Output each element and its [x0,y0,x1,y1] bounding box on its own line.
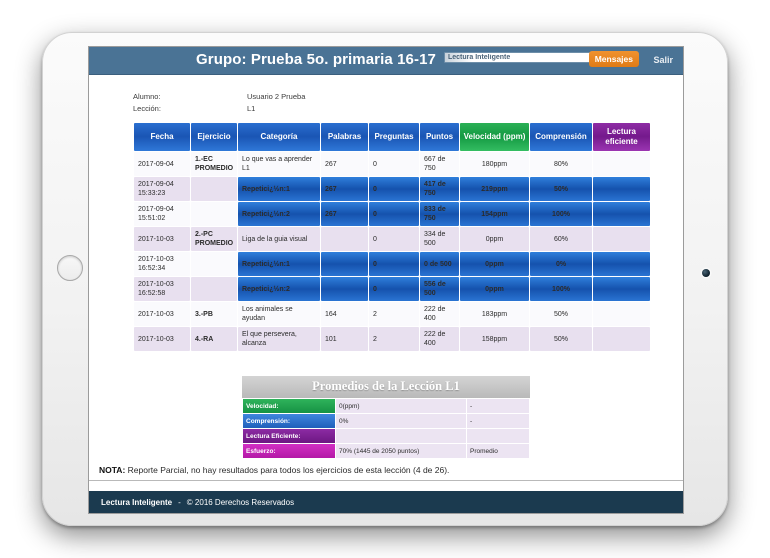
cell-fecha: 2017-10-03 16:52:34 [134,252,190,276]
footer-copyright: © 2016 Derechos Reservados [187,498,294,507]
tablet-screen: Grupo: Prueba 5o. primaria 16-17 Lectura… [88,46,684,514]
cell-puntos: 334 de 500 [420,227,459,251]
cell-velocidad: 180ppm [460,152,529,176]
cell-comprension: 0% [530,252,592,276]
cell-fecha: 2017-09-04 15:51:02 [134,202,190,226]
cell-lectura-eficiente [593,302,650,326]
results-table: Fecha Ejercicio Categoría Palabras Pregu… [133,122,651,352]
promedios-value [336,429,466,443]
results-table-body: 2017-09-041.-EC PROMEDIOLo que vas a apr… [134,152,650,351]
student-meta: Alumno: Usuario 2 Prueba Lección: L1 [133,91,639,115]
cell-comprension: 60% [530,227,592,251]
results-table-head: Fecha Ejercicio Categoría Palabras Pregu… [134,123,650,151]
cell-lectura-eficiente [593,277,650,301]
cell-puntos: 417 de 750 [420,177,459,201]
footer-brand: Lectura Inteligente [101,498,172,507]
cell-fecha: 2017-10-03 16:52:58 [134,277,190,301]
app-footer: Lectura Inteligente - © 2016 Derechos Re… [89,491,683,513]
table-row[interactable]: 2017-10-03 16:52:58Repetici¿½n:20556 de … [134,277,650,301]
table-header-row: Fecha Ejercicio Categoría Palabras Pregu… [134,123,650,151]
alumno-value: Usuario 2 Prueba [247,91,305,103]
cell-velocidad: 0ppm [460,252,529,276]
cell-categoria: Lo que vas a aprender L1 [238,152,320,176]
col-puntos[interactable]: Puntos [420,123,459,151]
cell-ejercicio [191,177,237,201]
cell-ejercicio: 3.-PB [191,302,237,326]
promedios-note: - [467,399,529,413]
cell-lectura-eficiente [593,327,650,351]
promedios-panel: Promedios de la Lección L1 Velocidad:0(p… [242,376,530,459]
meta-row-leccion: Lección: L1 [133,103,639,115]
promedios-row: Lectura Eficiente: [243,429,529,443]
cell-ejercicio [191,202,237,226]
app-screen: Grupo: Prueba 5o. primaria 16-17 Lectura… [89,47,683,513]
cell-palabras [321,227,368,251]
cell-comprension: 100% [530,277,592,301]
cell-lectura-eficiente [593,252,650,276]
cell-comprension: 50% [530,177,592,201]
cell-fecha: 2017-09-04 15:33:23 [134,177,190,201]
promedios-label: Lectura Eficiente: [243,429,335,443]
col-categoria[interactable]: Categoría [238,123,320,151]
table-row[interactable]: 2017-10-03 16:52:34Repetici¿½n:100 de 50… [134,252,650,276]
mensajes-button[interactable]: Mensajes [589,51,639,67]
cell-puntos: 222 de 400 [420,302,459,326]
cell-comprension: 100% [530,202,592,226]
cell-ejercicio: 4.-RA [191,327,237,351]
cell-categoria: Liga de la guia visual [238,227,320,251]
cell-ejercicio: 2.-PC PROMEDIO [191,227,237,251]
cell-categoria: Repetici¿½n:1 [238,252,320,276]
promedios-title: Promedios de la Lección L1 [242,376,530,398]
cell-palabras [321,277,368,301]
promedios-value: 0% [336,414,466,428]
tablet-home-button[interactable] [57,255,83,281]
app-header: Grupo: Prueba 5o. primaria 16-17 Lectura… [89,47,683,75]
promedios-row: Esfuerzo:70% (1445 de 2050 puntos)Promed… [243,444,529,458]
cell-preguntas: 0 [369,152,419,176]
cell-palabras: 267 [321,202,368,226]
table-row[interactable]: 2017-10-032.-PC PROMEDIOLiga de la guia … [134,227,650,251]
promedios-note: Promedio [467,444,529,458]
cell-lectura-eficiente [593,177,650,201]
cell-preguntas: 2 [369,302,419,326]
col-preguntas[interactable]: Preguntas [369,123,419,151]
leccion-label: Lección: [133,103,247,115]
col-fecha[interactable]: Fecha [134,123,190,151]
cell-fecha: 2017-09-04 [134,152,190,176]
table-row[interactable]: 2017-09-04 15:51:02Repetici¿½n:22670833 … [134,202,650,226]
cell-preguntas: 0 [369,277,419,301]
nota-text: Reporte Parcial, no hay resultados para … [125,465,449,475]
meta-row-alumno: Alumno: Usuario 2 Prueba [133,91,639,103]
cell-ejercicio: 1.-EC PROMEDIO [191,152,237,176]
footer-separator: - [178,498,181,507]
cell-velocidad: 158ppm [460,327,529,351]
cell-lectura-eficiente [593,227,650,251]
cell-palabras: 267 [321,177,368,201]
cell-preguntas: 0 [369,227,419,251]
nota-bar: NOTA: Reporte Parcial, no hay resultados… [89,465,683,481]
cell-lectura-eficiente [593,202,650,226]
leccion-value: L1 [247,103,255,115]
cell-preguntas: 0 [369,252,419,276]
cell-puntos: 0 de 500 [420,252,459,276]
cell-fecha: 2017-10-03 [134,327,190,351]
table-row[interactable]: 2017-09-04 15:33:23Repetici¿½n:12670417 … [134,177,650,201]
table-row[interactable]: 2017-10-034.-RAEl que persevera, alcanza… [134,327,650,351]
promedios-label: Velocidad: [243,399,335,413]
cell-categoria: Repetici¿½n:2 [238,277,320,301]
cell-palabras: 101 [321,327,368,351]
cell-comprension: 80% [530,152,592,176]
cell-categoria: Repetici¿½n:2 [238,202,320,226]
cell-preguntas: 0 [369,202,419,226]
cell-fecha: 2017-10-03 [134,227,190,251]
cell-velocidad: 0ppm [460,227,529,251]
cell-velocidad: 219ppm [460,177,529,201]
cell-comprension: 50% [530,327,592,351]
promedios-row: Velocidad:0(ppm)- [243,399,529,413]
cell-preguntas: 2 [369,327,419,351]
cell-categoria: Repetici¿½n:1 [238,177,320,201]
cell-ejercicio [191,277,237,301]
cell-categoria: Los animales se ayudan [238,302,320,326]
app-content: Alumno: Usuario 2 Prueba Lección: L1 [89,75,683,513]
cell-velocidad: 0ppm [460,277,529,301]
cell-comprension: 50% [530,302,592,326]
cell-lectura-eficiente [593,152,650,176]
promedios-row: Comprensión:0%- [243,414,529,428]
promedios-table: Velocidad:0(ppm)-Comprensión:0%-Lectura … [242,398,530,459]
cell-palabras: 267 [321,152,368,176]
cell-fecha: 2017-10-03 [134,302,190,326]
promedios-value: 0(ppm) [336,399,466,413]
cell-velocidad: 154ppm [460,202,529,226]
tablet-device-frame: Grupo: Prueba 5o. primaria 16-17 Lectura… [42,32,728,526]
table-row[interactable]: 2017-10-033.-PBLos animales se ayudan164… [134,302,650,326]
col-palabras[interactable]: Palabras [321,123,368,151]
cell-preguntas: 0 [369,177,419,201]
table-row[interactable]: 2017-09-041.-EC PROMEDIOLo que vas a apr… [134,152,650,176]
salir-link[interactable]: Salir [653,55,673,65]
col-velocidad[interactable]: Velocidad (ppm) [460,123,529,151]
cell-puntos: 667 de 750 [420,152,459,176]
nota-label: NOTA: [99,465,125,475]
tablet-camera-icon [702,269,710,277]
col-ejercicio[interactable]: Ejercicio [191,123,237,151]
promedios-note [467,429,529,443]
cell-puntos: 833 de 750 [420,202,459,226]
col-comprension[interactable]: Comprensión [530,123,592,151]
promedios-label: Esfuerzo: [243,444,335,458]
promedios-note: - [467,414,529,428]
cell-palabras: 164 [321,302,368,326]
cell-puntos: 222 de 400 [420,327,459,351]
promedios-table-body: Velocidad:0(ppm)-Comprensión:0%-Lectura … [243,399,529,458]
cell-velocidad: 183ppm [460,302,529,326]
alumno-label: Alumno: [133,91,247,103]
cell-ejercicio [191,252,237,276]
cell-palabras [321,252,368,276]
col-lectura-eficiente[interactable]: Lectura eficiente [593,123,650,151]
cell-categoria: El que persevera, alcanza [238,327,320,351]
promedios-label: Comprensión: [243,414,335,428]
promedios-value: 70% (1445 de 2050 puntos) [336,444,466,458]
cell-puntos: 556 de 500 [420,277,459,301]
